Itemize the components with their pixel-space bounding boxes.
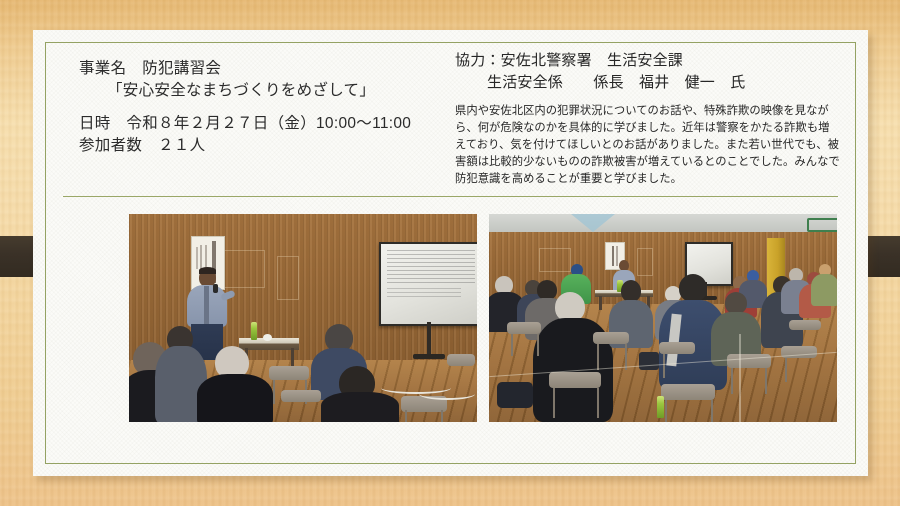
cooperation-org-label: 協力：安佐北警察署 生活安全課 <box>455 50 840 72</box>
cooperation-person-label: 生活安全係 係長 福井 健一 氏 <box>455 72 840 94</box>
photo-audience-wide-scene <box>489 214 837 422</box>
photo-lecture-speaker <box>129 214 477 422</box>
project-name-label: 事業名 防犯講習会 <box>79 58 449 80</box>
event-info-column: 事業名 防犯講習会 「安心安全なまちづくりをめざして」 日時 令和８年２月２７日… <box>79 58 449 157</box>
header-text-row: 事業名 防犯講習会 「安心安全なまちづくりをめざして」 日時 令和８年２月２７日… <box>45 42 856 188</box>
slide-background: 事業名 防犯講習会 「安心安全なまちづくりをめざして」 日時 令和８年２月２７日… <box>0 0 900 506</box>
event-datetime-label: 日時 令和８年２月２７日（金）10:00〜11:00 <box>79 113 449 135</box>
summary-paragraph: 県内や安佐北区内の犯罪状況についてのお話や、特殊詐欺の映像を見ながら、何が危険な… <box>455 103 840 189</box>
cooperation-column: 協力：安佐北警察署 生活安全課 生活安全係 係長 福井 健一 氏 県内や安佐北区… <box>455 50 840 188</box>
photo-lecture-speaker-scene <box>129 214 477 422</box>
project-subtitle-label: 「安心安全なまちづくりをめざして」 <box>79 80 449 102</box>
photo-row <box>45 214 856 426</box>
content-card: 事業名 防犯講習会 「安心安全なまちづくりをめざして」 日時 令和８年２月２７日… <box>33 30 868 476</box>
card-content: 事業名 防犯講習会 「安心安全なまちづくりをめざして」 日時 令和８年２月２７日… <box>45 42 856 464</box>
attendance-count-label: 参加者数 ２１人 <box>79 135 449 157</box>
section-divider <box>63 196 838 197</box>
spacer <box>79 102 449 113</box>
photo-audience-wide <box>489 214 837 422</box>
